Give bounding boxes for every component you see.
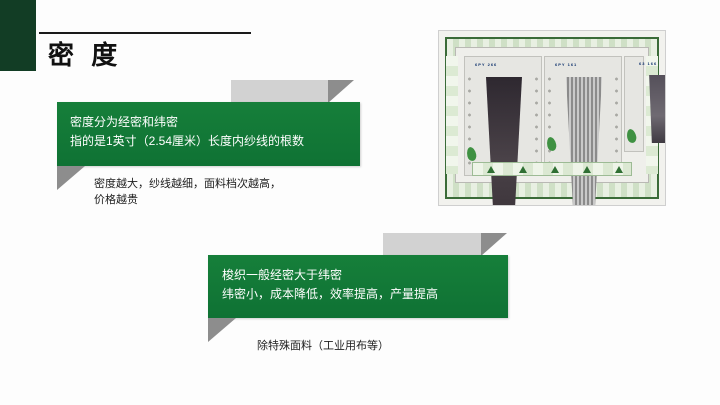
photo-left-strip (446, 56, 458, 174)
footer-leaf-icon-2 (519, 166, 527, 173)
ribbon-1-text-line-1: 密度分为经密和纬密 (70, 113, 304, 132)
footer-leaf-icon-5 (615, 166, 623, 173)
footer-leaf-icon-1 (487, 166, 495, 173)
leaf-icon-c (626, 128, 638, 144)
ribbon-2-text-line-2: 纬密小，成本降低，效率提高，产量提高 (222, 285, 438, 304)
caption-2: 除特殊面料（工业用布等） (257, 338, 389, 354)
slide-canvas: 密 度 密度分为经密和纬密 指的是1英寸（2.54厘米）长度内纱线的根数 密度越… (0, 0, 720, 405)
sample-panel-c: 63 166 (624, 56, 644, 152)
title-corner-block (0, 0, 36, 71)
ribbon-1-gray-tab (231, 80, 328, 102)
ribbon-2-gray-tab (383, 233, 481, 255)
ribbon-1-text-line-2: 指的是1英寸（2.54厘米）长度内纱线的根数 (70, 132, 304, 151)
sample-panel-b: 6PY 161 7寸... 6寸 2 (544, 56, 622, 176)
ribbon-1-bottom-fold-icon (57, 166, 85, 190)
sample-panel-a: 6PY 266 上海纺织 2.5寸线 (464, 56, 542, 176)
dot-column-b-left (547, 73, 552, 165)
caption-1-line-1: 密度越大，纱线越细，面料档次越高， (94, 176, 281, 192)
dot-column-b-right (614, 73, 619, 165)
photo-footer-strip (472, 162, 632, 176)
sample-label-a: 6PY 266 (475, 62, 497, 67)
sample-label-b: 6PY 161 (555, 62, 577, 67)
title-divider-line (39, 32, 251, 34)
footer-leaf-icon-4 (583, 166, 591, 173)
footer-leaf-icon-3 (551, 166, 559, 173)
ribbon-2-text-line-1: 梭织一般经密大于纬密 (222, 266, 438, 285)
caption-1-line-2: 价格越贵 (94, 192, 281, 208)
fabric-sample-photo: 6PY 266 上海纺织 2.5寸线 6PY 161 7寸... 6寸 2 63… (438, 30, 666, 206)
ribbon-2-bottom-fold-icon (208, 318, 236, 342)
sample-label-c: 63 166 (639, 61, 657, 66)
page-title: 密 度 (48, 38, 122, 72)
ribbon-2-top-fold-icon (481, 233, 507, 256)
ribbon-2-text: 梭织一般经密大于纬密 纬密小，成本降低，效率提高，产量提高 (222, 266, 438, 304)
dot-column-a-right (534, 73, 539, 165)
photo-inner-sheet: 6PY 266 上海纺织 2.5寸线 6PY 161 7寸... 6寸 2 63… (455, 47, 649, 183)
caption-2-line-1: 除特殊面料（工业用布等） (257, 338, 389, 354)
caption-1: 密度越大，纱线越细，面料档次越高， 价格越贵 (94, 176, 281, 208)
ribbon-1-top-fold-icon (328, 80, 354, 103)
ribbon-1-text: 密度分为经密和纬密 指的是1英寸（2.54厘米）长度内纱线的根数 (70, 113, 304, 151)
